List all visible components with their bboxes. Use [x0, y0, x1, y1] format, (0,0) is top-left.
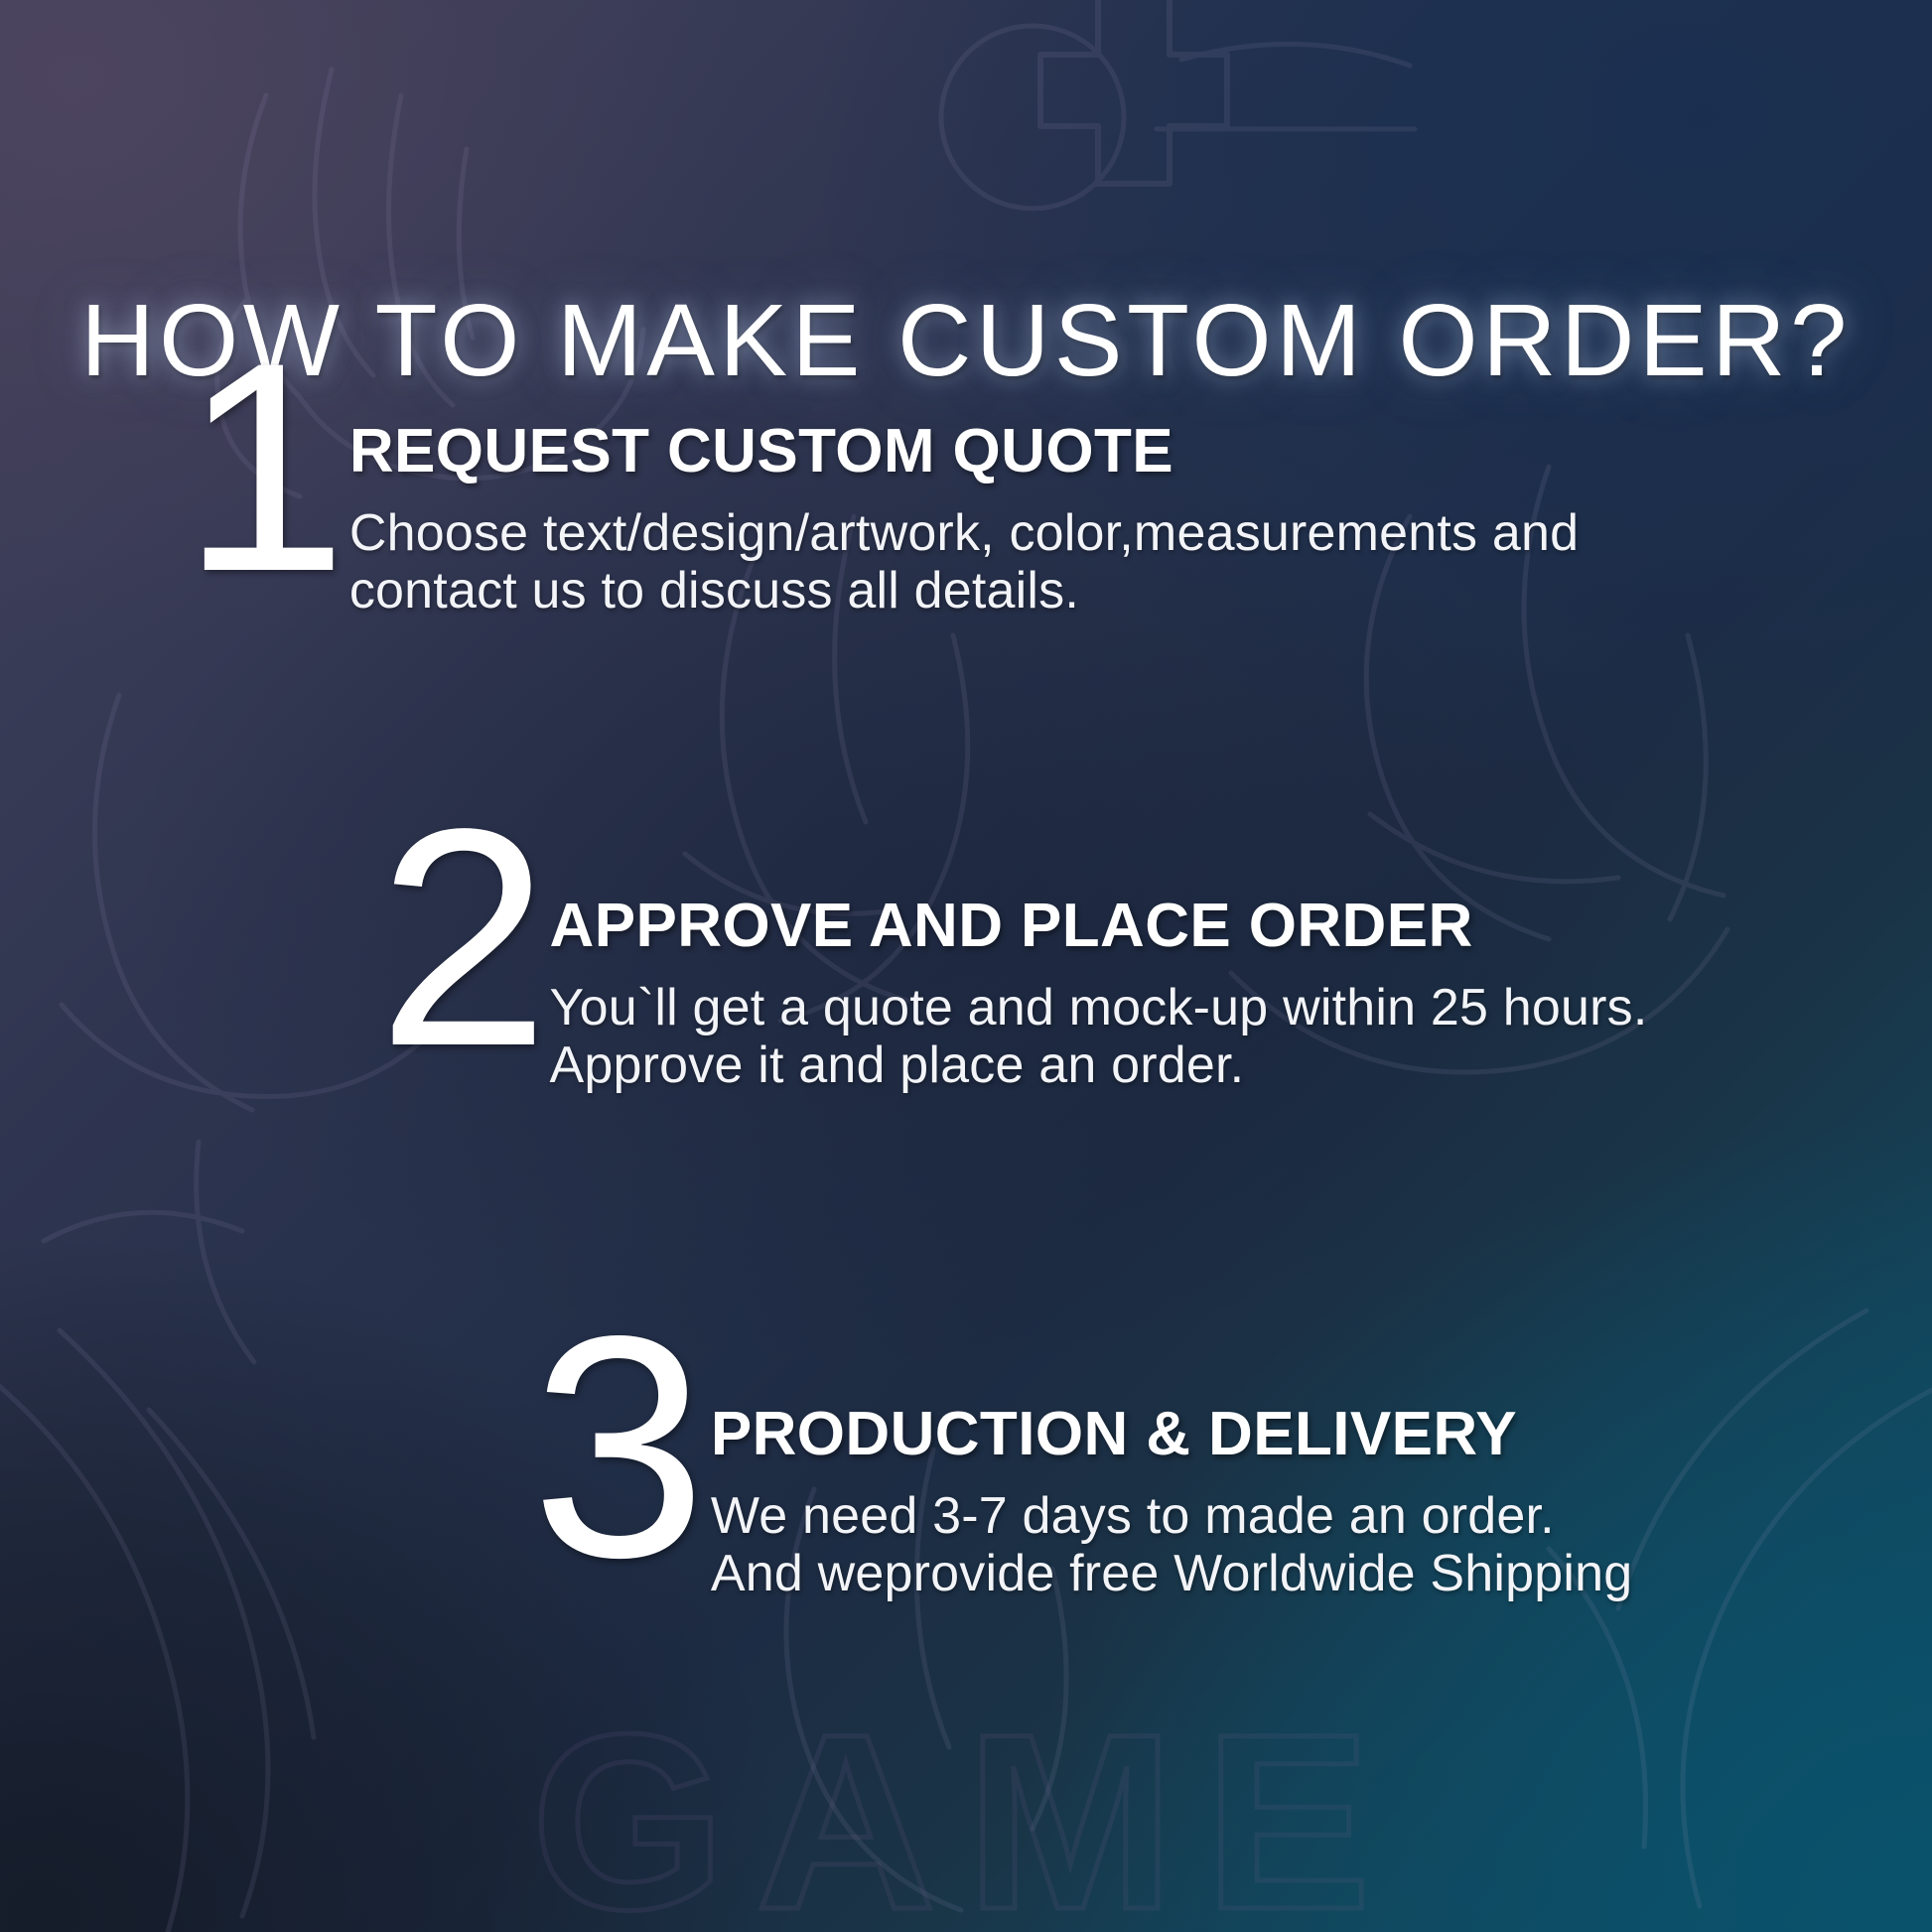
- infographic-content: HOW TO MAKE CUSTOM ORDER? 1 REQUEST CUST…: [0, 0, 1932, 1932]
- step-heading-2: APPROVE AND PLACE ORDER: [550, 896, 1648, 957]
- step-description-3: We need 3-7 days to made an order. And w…: [711, 1487, 1633, 1602]
- step-number-2: 2: [377, 840, 546, 1038]
- step-body-1: REQUEST CUSTOM QUOTE Choose text/design/…: [349, 417, 1579, 620]
- step-description-2-line-2: Approve it and place an order.: [550, 1036, 1648, 1094]
- step-number-1: 1: [182, 371, 344, 562]
- step-heading-3: PRODUCTION & DELIVERY: [711, 1404, 1633, 1465]
- step-description-3-line-1: We need 3-7 days to made an order.: [711, 1487, 1633, 1545]
- step-description-1: Choose text/design/artwork, color,measur…: [349, 504, 1579, 620]
- step-item-2: 2 APPROVE AND PLACE ORDER You`ll get a q…: [377, 892, 1647, 1094]
- step-item-3: 3 PRODUCTION & DELIVERY We need 3-7 days…: [531, 1400, 1632, 1602]
- step-description-2-line-1: You`ll get a quote and mock-up within 25…: [550, 979, 1648, 1036]
- step-item-1: 1 REQUEST CUSTOM QUOTE Choose text/desig…: [182, 417, 1579, 620]
- step-heading-1: REQUEST CUSTOM QUOTE: [349, 421, 1579, 483]
- step-number-3: 3: [531, 1346, 703, 1549]
- step-description-3-line-2: And weprovide free Worldwide Shipping: [711, 1545, 1633, 1602]
- step-body-2: APPROVE AND PLACE ORDER You`ll get a quo…: [550, 892, 1648, 1094]
- infographic-canvas: GAME HOW TO MAKE CUSTOM ORDER? 1 REQUEST…: [0, 0, 1932, 1932]
- step-body-3: PRODUCTION & DELIVERY We need 3-7 days t…: [711, 1400, 1633, 1602]
- step-description-1-line-2: contact us to discuss all details.: [349, 562, 1579, 620]
- step-description-2: You`ll get a quote and mock-up within 25…: [550, 979, 1648, 1094]
- step-description-1-line-1: Choose text/design/artwork, color,measur…: [349, 504, 1579, 562]
